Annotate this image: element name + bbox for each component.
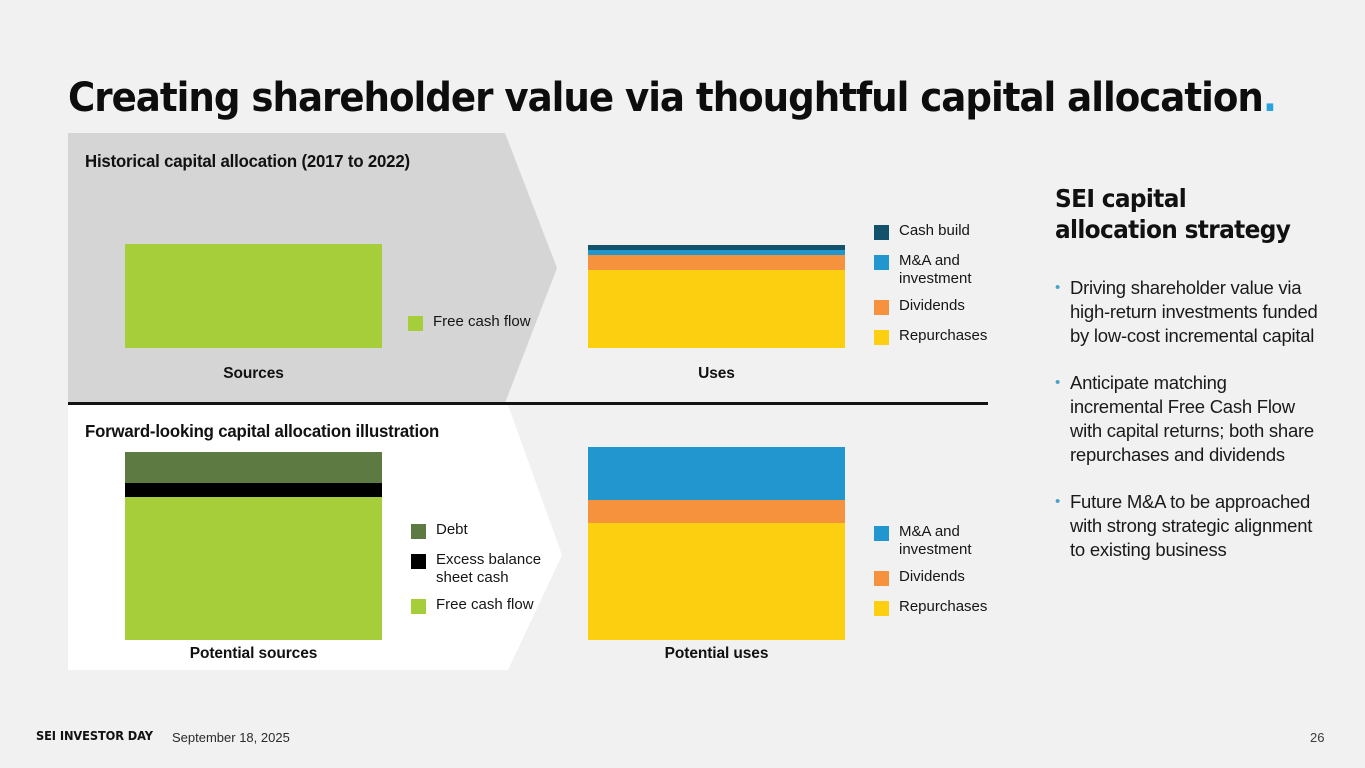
legend-label: Dividends	[899, 568, 965, 586]
list-item: • Driving shareholder value via high-ret…	[1055, 276, 1320, 348]
forward-uses-legend: M&A and investment Dividends Repurchases	[874, 523, 988, 628]
bar-segment-debt	[125, 452, 382, 483]
legend-swatch-repurchases	[874, 330, 889, 345]
legend-label: Repurchases	[899, 327, 987, 345]
legend-item: Dividends	[874, 297, 988, 315]
historical-panel-heading: Historical capital allocation (2017 to 2…	[85, 151, 410, 172]
legend-item: Excess balance sheet cash	[411, 551, 566, 586]
strategy-bullet-list: • Driving shareholder value via high-ret…	[1055, 276, 1320, 562]
strategy-rail: SEI capital allocation strategy • Drivin…	[1055, 183, 1320, 585]
historical-panel: Historical capital allocation (2017 to 2…	[68, 133, 988, 403]
strategy-heading: SEI capital allocation strategy	[1055, 183, 1301, 245]
legend-label: M&A and investment	[899, 523, 988, 558]
bar-segment-dividends	[588, 255, 845, 270]
historical-sources-label: Sources	[125, 365, 382, 383]
forward-uses-bar	[588, 447, 845, 640]
legend-label: Cash build	[899, 222, 970, 240]
bar-segment-repurchases	[588, 270, 845, 348]
legend-swatch-cash-build	[874, 225, 889, 240]
bullet-text: Anticipate matching incremental Free Cas…	[1070, 371, 1320, 467]
legend-label: Free cash flow	[436, 596, 534, 614]
list-item: • Anticipate matching incremental Free C…	[1055, 371, 1320, 467]
footer-date: September 18, 2025	[172, 730, 290, 745]
legend-swatch-dividends	[874, 300, 889, 315]
legend-item: Free cash flow	[408, 313, 531, 331]
forward-uses-label: Potential uses	[588, 645, 845, 663]
legend-label: Excess balance sheet cash	[436, 551, 566, 586]
bullet-text: Future M&A to be approached with strong …	[1070, 490, 1320, 562]
slide-canvas: Creating shareholder value via thoughtfu…	[0, 0, 1365, 768]
forward-sources-bar	[125, 452, 382, 640]
historical-uses-label: Uses	[588, 365, 845, 383]
historical-uses-bar	[588, 245, 845, 348]
historical-sources-bar	[125, 244, 382, 348]
legend-label: Dividends	[899, 297, 965, 315]
bar-segment-free-cash-flow	[125, 244, 382, 348]
bar-segment-ma-investment	[588, 447, 845, 500]
bullet-dot-icon: •	[1055, 276, 1070, 348]
legend-item: Dividends	[874, 568, 988, 586]
title-accent-dot: .	[1263, 75, 1276, 121]
footer-rule	[0, 710, 1365, 711]
legend-item: Repurchases	[874, 598, 988, 616]
legend-swatch-repurchases	[874, 601, 889, 616]
footer-brand: SEI INVESTOR DAY	[36, 729, 153, 743]
strategy-heading-line2: allocation strategy	[1055, 214, 1301, 245]
forward-looking-panel: Forward-looking capital allocation illus…	[68, 405, 988, 670]
page-number: 26	[1310, 730, 1324, 745]
legend-item: M&A and investment	[874, 523, 988, 558]
legend-item: Repurchases	[874, 327, 988, 345]
page-title: Creating shareholder value via thoughtfu…	[68, 70, 1231, 126]
legend-swatch-free-cash-flow	[408, 316, 423, 331]
historical-sources-legend: Free cash flow	[408, 313, 531, 343]
strategy-heading-line1: SEI capital	[1055, 183, 1301, 214]
bullet-dot-icon: •	[1055, 371, 1070, 467]
bullet-dot-icon: •	[1055, 490, 1070, 562]
legend-swatch-dividends	[874, 571, 889, 586]
bar-segment-repurchases	[588, 523, 845, 640]
forward-panel-heading: Forward-looking capital allocation illus…	[85, 421, 439, 442]
legend-swatch-excess-balance-sheet-cash	[411, 554, 426, 569]
legend-item: Debt	[411, 521, 566, 539]
legend-swatch-free-cash-flow	[411, 599, 426, 614]
bullet-text: Driving shareholder value via high-retur…	[1070, 276, 1320, 348]
legend-item: Cash build	[874, 222, 988, 240]
legend-swatch-ma-investment	[874, 526, 889, 541]
historical-uses-legend: Cash build M&A and investment Dividends …	[874, 222, 988, 357]
bar-segment-dividends	[588, 500, 845, 523]
page-title-text: Creating shareholder value via thoughtfu…	[68, 75, 1263, 121]
forward-sources-label: Potential sources	[125, 645, 382, 663]
legend-label: Free cash flow	[433, 313, 531, 331]
legend-item: M&A and investment	[874, 252, 988, 287]
legend-label: Repurchases	[899, 598, 987, 616]
legend-swatch-ma-investment	[874, 255, 889, 270]
forward-sources-legend: Debt Excess balance sheet cash Free cash…	[411, 521, 566, 626]
bar-segment-free-cash-flow	[125, 497, 382, 640]
legend-label: Debt	[436, 521, 468, 539]
bar-segment-excess-balance-sheet-cash	[125, 483, 382, 497]
legend-swatch-debt	[411, 524, 426, 539]
legend-item: Free cash flow	[411, 596, 566, 614]
legend-label: M&A and investment	[899, 252, 988, 287]
list-item: • Future M&A to be approached with stron…	[1055, 490, 1320, 562]
